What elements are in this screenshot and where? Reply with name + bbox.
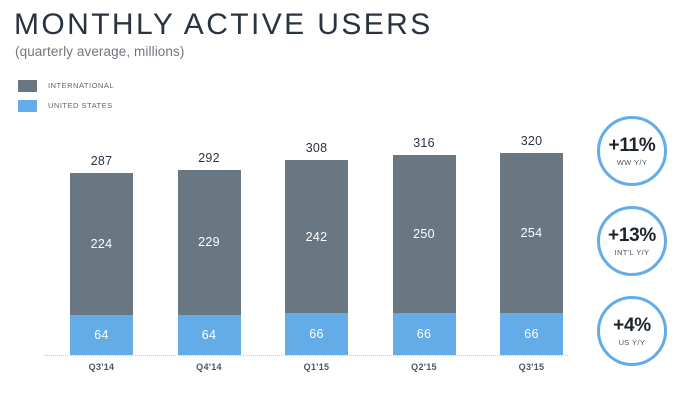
bar-total-label: 320 <box>500 134 563 148</box>
bar-segment-international: 224 <box>70 173 133 315</box>
bar-segment-international: 242 <box>285 160 348 313</box>
callout-label: WW Y/Y <box>617 158 648 167</box>
x-axis-line <box>44 355 568 357</box>
bar-Q414: 22964 <box>178 170 241 355</box>
callout-value: +11% <box>609 136 656 155</box>
x-axis-label: Q1'15 <box>285 362 348 372</box>
segment-value-united-states: 64 <box>94 328 109 342</box>
callout-badge-1: +13%INT'L Y/Y <box>597 206 667 276</box>
bar-segment-international: 250 <box>393 155 456 313</box>
x-axis-label: Q4'14 <box>178 362 241 372</box>
bar-Q314: 22464 <box>70 173 133 355</box>
callout-badge-2: +4%US Y/Y <box>597 296 667 366</box>
bar-Q215: 25066 <box>393 155 456 355</box>
segment-value-international: 250 <box>413 227 435 241</box>
bar-total-label: 316 <box>393 136 456 150</box>
bar-Q115: 24266 <box>285 160 348 355</box>
bar-segment-united-states: 66 <box>393 313 456 355</box>
segment-value-international: 242 <box>306 230 328 244</box>
segment-value-united-states: 66 <box>309 327 324 341</box>
callout-value: +4% <box>613 316 651 335</box>
chart-slide: MONTHLY ACTIVE USERS (quarterly average,… <box>0 0 680 404</box>
bar-segment-united-states: 64 <box>70 315 133 355</box>
x-axis-label: Q3'14 <box>70 362 133 372</box>
callout-badge-0: +11%WW Y/Y <box>597 116 667 186</box>
bar-segment-international: 254 <box>500 153 563 314</box>
segment-value-united-states: 66 <box>524 327 539 341</box>
bar-total-label: 308 <box>285 141 348 155</box>
bar-segment-united-states: 66 <box>285 313 348 355</box>
bar-chart-plot: 22464287Q3'1422964292Q4'1424266308Q1'152… <box>0 0 600 404</box>
bar-segment-international: 229 <box>178 170 241 315</box>
callout-label: US Y/Y <box>619 338 646 347</box>
x-axis-label: Q2'15 <box>393 362 456 372</box>
bar-segment-united-states: 64 <box>178 315 241 355</box>
segment-value-international: 224 <box>91 237 113 251</box>
callout-value: +13% <box>608 226 656 245</box>
segment-value-united-states: 66 <box>417 327 432 341</box>
bar-total-label: 292 <box>178 151 241 165</box>
segment-value-international: 254 <box>521 226 543 240</box>
x-axis-label: Q3'15 <box>500 362 563 372</box>
bar-total-label: 287 <box>70 154 133 168</box>
bar-segment-united-states: 66 <box>500 313 563 355</box>
segment-value-international: 229 <box>198 235 220 249</box>
callout-label: INT'L Y/Y <box>614 248 649 257</box>
segment-value-united-states: 64 <box>202 328 217 342</box>
bar-Q315: 25466 <box>500 153 563 355</box>
